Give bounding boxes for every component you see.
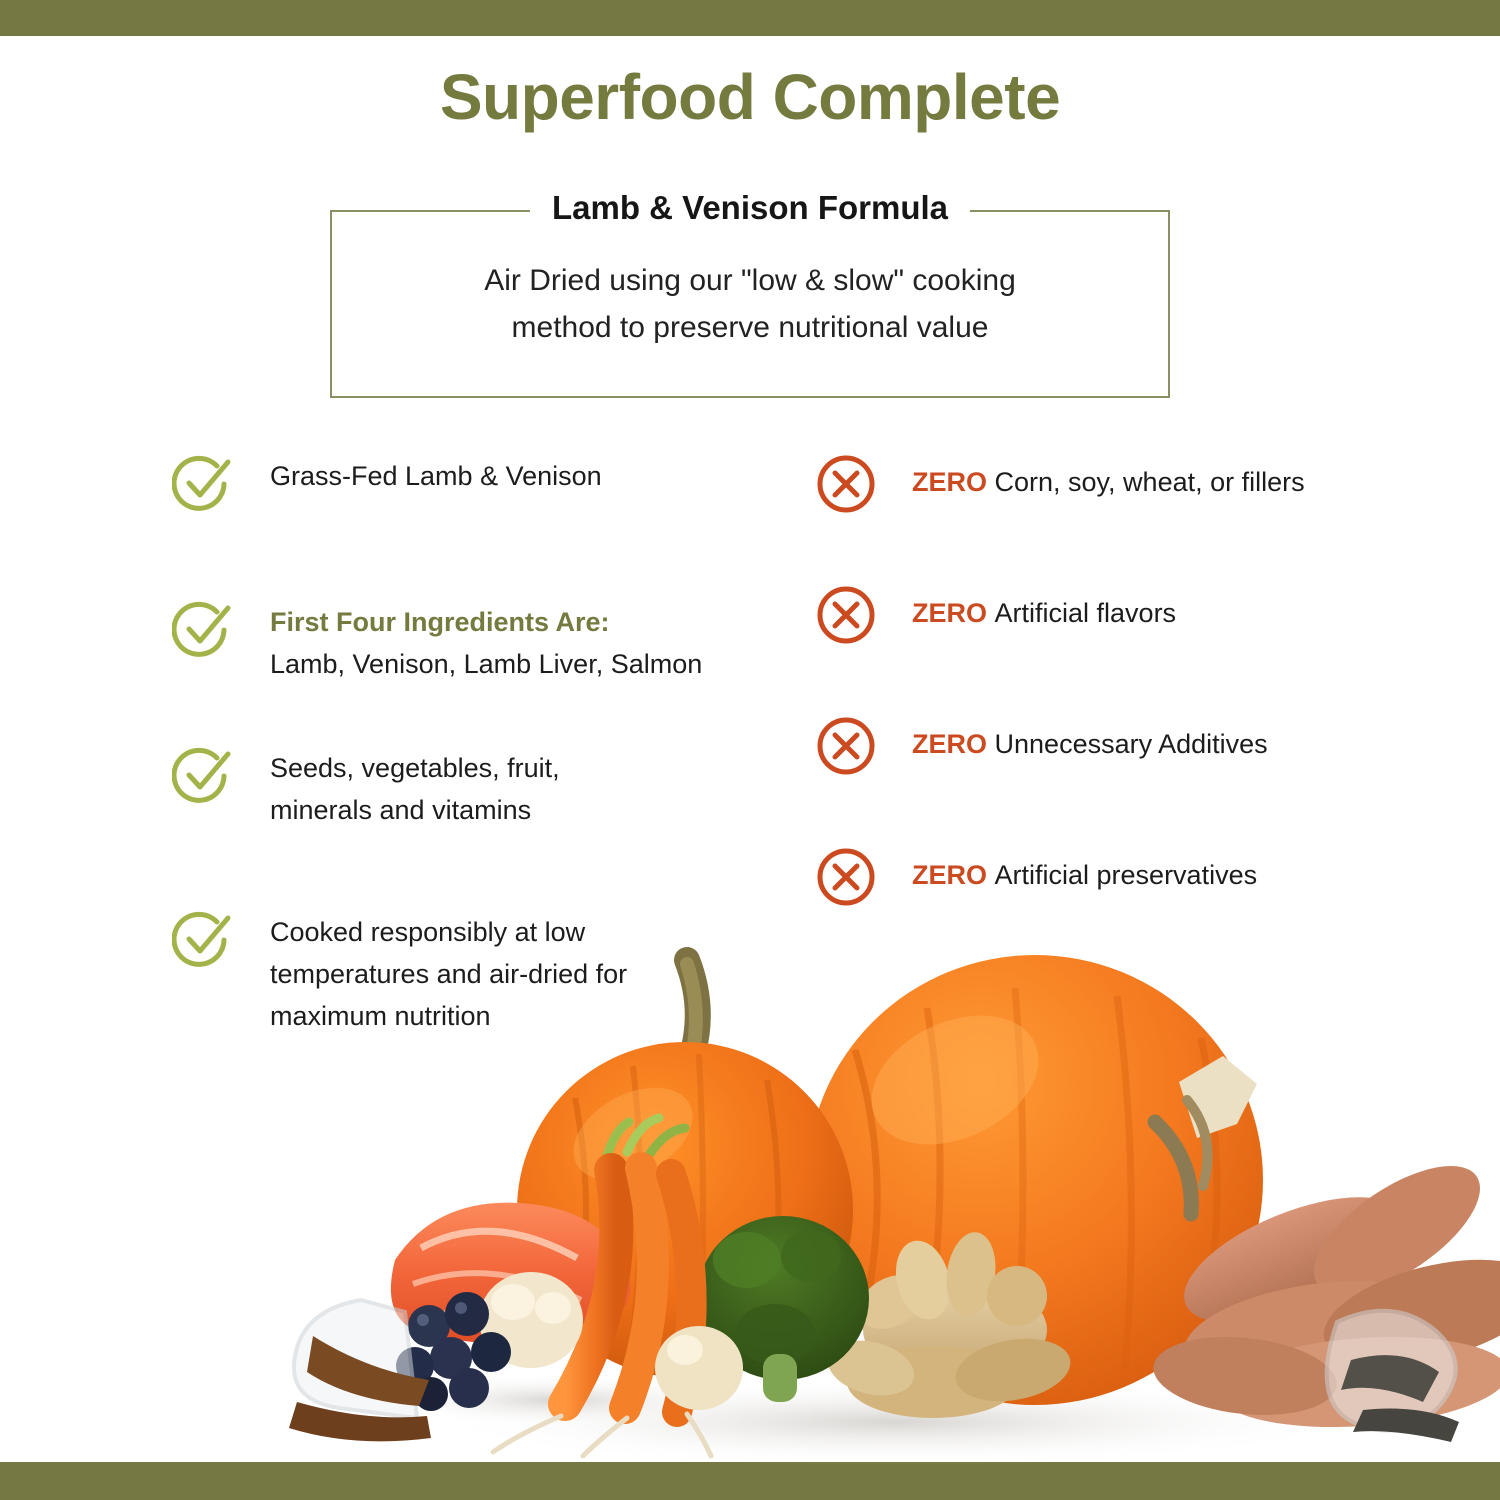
exclusion-label: Artificial flavors <box>995 598 1177 628</box>
produce-illustration <box>255 930 1500 1470</box>
formula-line-1: Air Dried using our "low & slow" cooking <box>358 258 1142 305</box>
zero-prefix: ZERO <box>912 598 995 628</box>
exclusion-label: Unnecessary Additives <box>995 729 1268 759</box>
exclusion-text: ZERO Unnecessary Additives <box>912 714 1414 766</box>
exclusion-item: ZERO Unnecessary Additives <box>814 714 1414 845</box>
page-title: Superfood Complete <box>0 62 1500 132</box>
exclusion-text: ZERO Corn, soy, wheat, or fillers <box>912 452 1414 504</box>
benefit-heading: First Four Ingredients Are: <box>270 602 772 644</box>
formula-box: Lamb & Venison Formula Air Dried using o… <box>330 210 1170 398</box>
exclusion-text: ZERO Artificial flavors <box>912 583 1414 635</box>
benefit-text: Grass-Fed Lamb & Venison <box>270 452 772 498</box>
x-circle-icon <box>814 583 878 647</box>
check-circle-icon <box>172 744 236 808</box>
check-circle-icon <box>172 908 236 972</box>
zero-prefix: ZERO <box>912 467 995 497</box>
exclusion-item: ZERO Corn, soy, wheat, or fillers <box>814 452 1414 583</box>
benefit-text: Seeds, vegetables, fruit, minerals and v… <box>270 744 600 832</box>
benefit-label: Grass-Fed Lamb & Venison <box>270 456 772 498</box>
zero-prefix: ZERO <box>912 729 995 759</box>
benefit-label: Seeds, vegetables, fruit, minerals and v… <box>270 748 600 832</box>
top-accent-bar <box>0 0 1500 36</box>
exclusion-text: ZERO Artificial preservatives <box>912 845 1414 897</box>
x-circle-icon <box>814 452 878 516</box>
check-circle-icon <box>172 598 236 662</box>
produce-photo <box>255 930 1500 1470</box>
exclusion-label: Corn, soy, wheat, or fillers <box>995 467 1305 497</box>
check-circle-icon <box>172 452 236 516</box>
formula-description: Air Dried using our "low & slow" cooking… <box>332 258 1168 351</box>
benefit-label: Lamb, Venison, Lamb Liver, Salmon <box>270 644 772 686</box>
formula-legend: Lamb & Venison Formula <box>530 189 970 227</box>
exclusion-label: Artificial preservatives <box>995 860 1258 890</box>
benefit-item: Grass-Fed Lamb & Venison <box>172 452 772 598</box>
benefit-item: Seeds, vegetables, fruit, minerals and v… <box>172 744 772 908</box>
x-circle-icon <box>814 714 878 778</box>
formula-line-2: method to preserve nutritional value <box>358 305 1142 352</box>
benefit-item: First Four Ingredients Are: Lamb, Veniso… <box>172 598 772 744</box>
zero-prefix: ZERO <box>912 860 995 890</box>
exclusions-column: ZERO Corn, soy, wheat, or fillers ZERO A… <box>814 452 1414 976</box>
benefit-text: First Four Ingredients Are: Lamb, Veniso… <box>270 598 772 686</box>
x-circle-icon <box>814 845 878 909</box>
exclusion-item: ZERO Artificial flavors <box>814 583 1414 714</box>
infographic-page: Superfood Complete Lamb & Venison Formul… <box>0 0 1500 1500</box>
